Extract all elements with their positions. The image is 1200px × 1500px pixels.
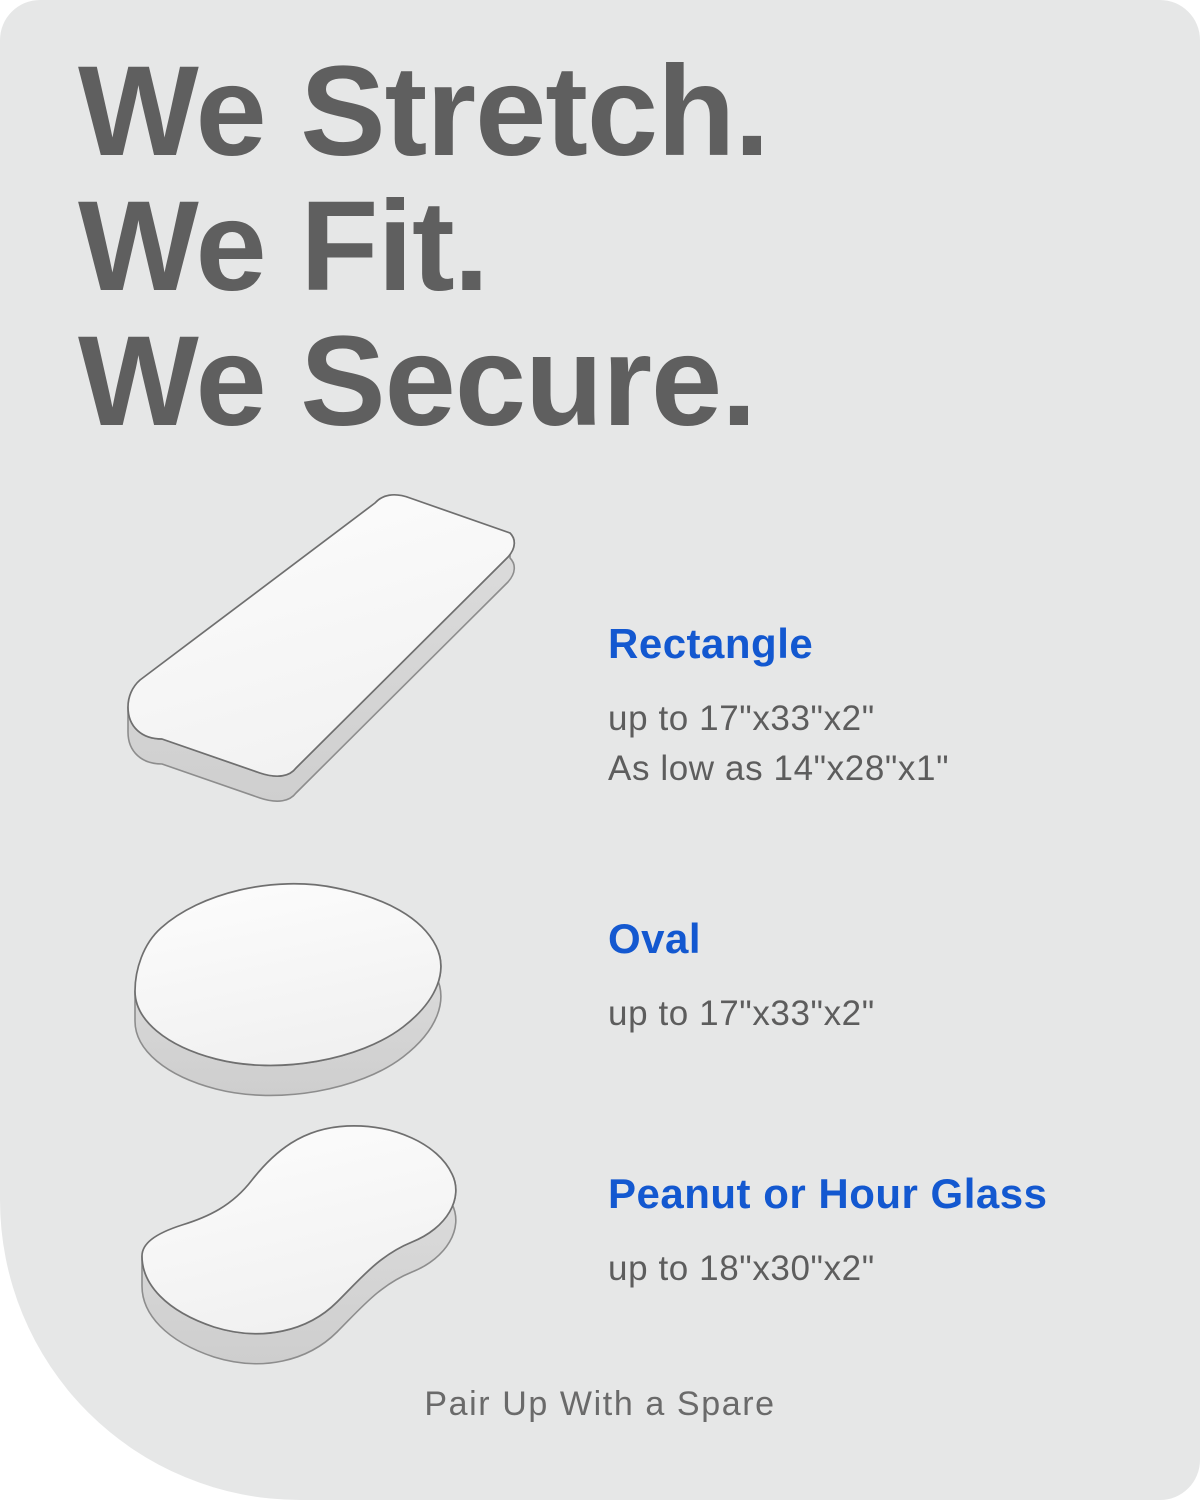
shape-info-oval: Oval up to 17"x33"x2"	[608, 915, 1168, 1039]
shape-spec-peanut-1: up to 18"x30"x2"	[608, 1244, 1168, 1294]
tagline: Pair Up With a Spare	[0, 1385, 1200, 1424]
peanut-mattress-icon	[110, 1100, 580, 1400]
shape-row-oval: Oval up to 17"x33"x2"	[0, 830, 1200, 1130]
shape-title-oval: Oval	[608, 915, 1168, 963]
shape-spec-oval-1: up to 17"x33"x2"	[608, 989, 1168, 1039]
oval-mattress-icon	[110, 830, 580, 1130]
rectangle-mattress-illustration	[110, 520, 580, 820]
product-feature-poster: We Stretch. We Fit. We Secure.	[0, 0, 1200, 1500]
headline-line-1: We Stretch.	[78, 44, 1078, 179]
shape-title-peanut: Peanut or Hour Glass	[608, 1170, 1168, 1218]
shape-info-rectangle: Rectangle up to 17"x33"x2" As low as 14"…	[608, 620, 1168, 794]
shape-row-peanut: Peanut or Hour Glass up to 18"x30"x2"	[0, 1100, 1200, 1390]
page-title: We Stretch. We Fit. We Secure.	[78, 44, 1078, 449]
shape-row-rectangle: Rectangle up to 17"x33"x2" As low as 14"…	[0, 520, 1200, 840]
rectangle-mattress-icon	[110, 520, 580, 820]
shape-title-rectangle: Rectangle	[608, 620, 1168, 668]
headline-line-3: We Secure.	[78, 314, 1078, 449]
headline-line-2: We Fit.	[78, 179, 1078, 314]
peanut-mattress-illustration	[110, 1100, 580, 1400]
shape-info-peanut: Peanut or Hour Glass up to 18"x30"x2"	[608, 1170, 1168, 1294]
oval-mattress-illustration	[110, 830, 580, 1130]
shape-spec-rectangle-2: As low as 14"x28"x1"	[608, 744, 1168, 794]
shape-spec-rectangle-1: up to 17"x33"x2"	[608, 694, 1168, 744]
